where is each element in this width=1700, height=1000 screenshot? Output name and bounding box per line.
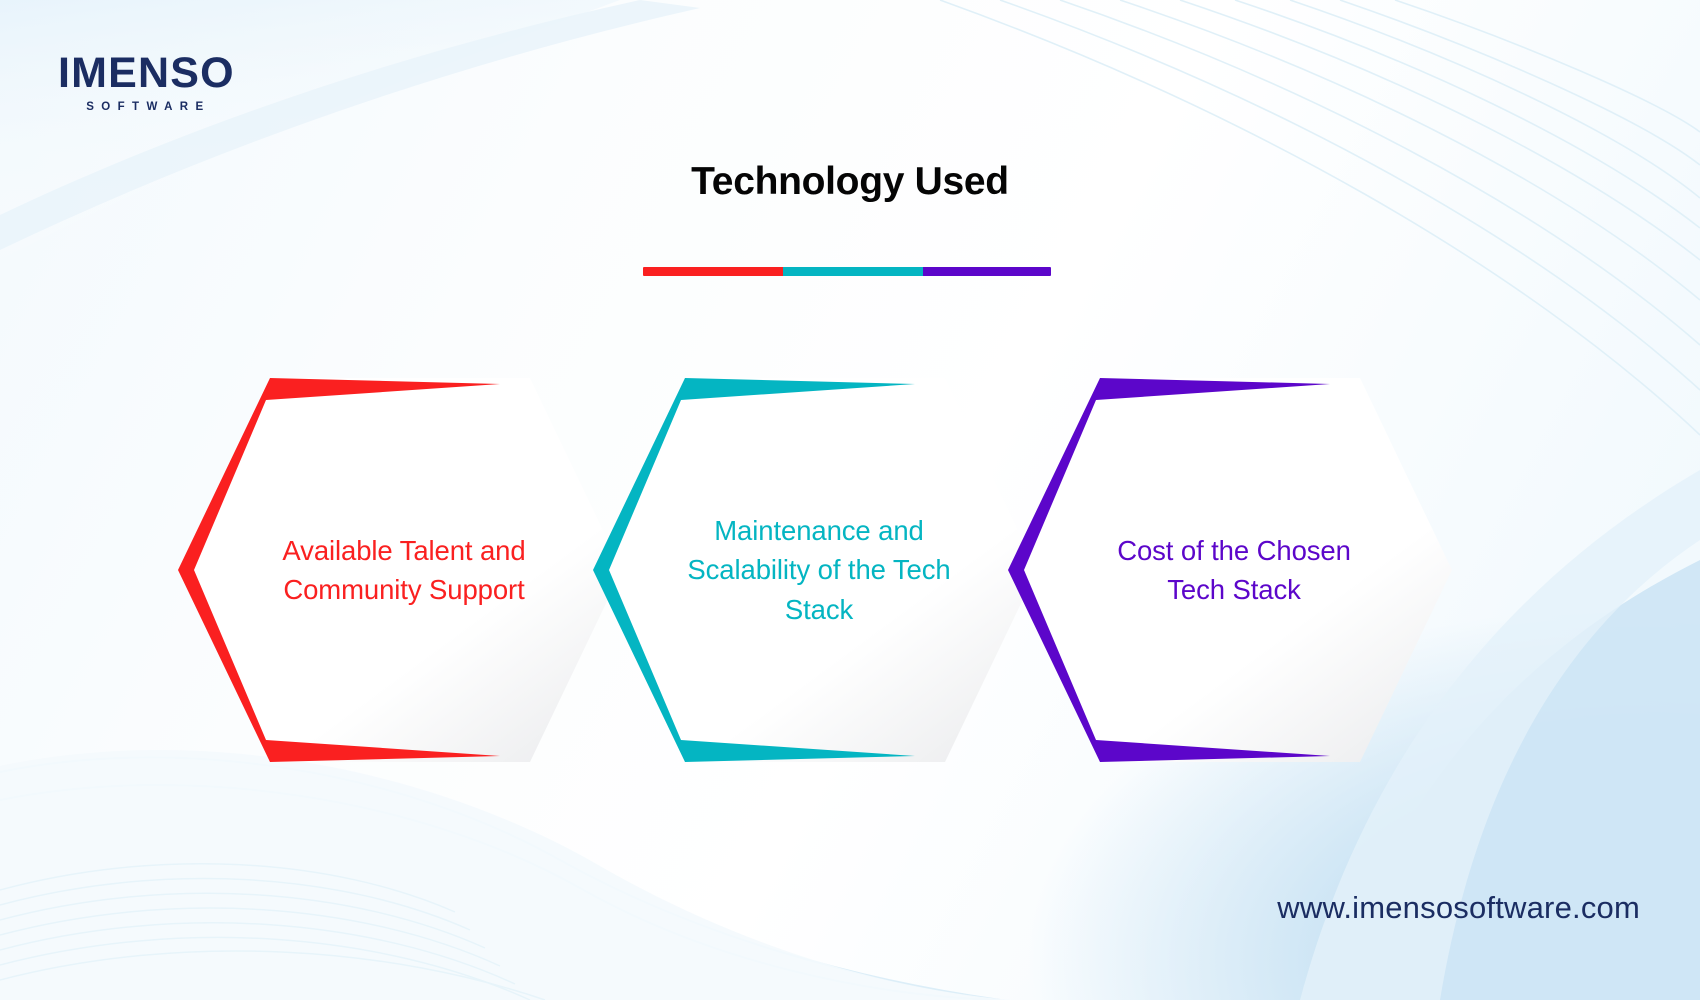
left-wave-lines — [0, 757, 1000, 1000]
hexagon-card-available-talent[interactable]: Available Talent and Community Support — [170, 370, 630, 770]
hexagon-label: Maintenance and Scalability of the Tech … — [585, 370, 1045, 770]
logo-wordmark: IMENSO — [58, 52, 235, 95]
page-title: Technology Used — [0, 160, 1700, 204]
hexagon-card-maintenance-scalability[interactable]: Maintenance and Scalability of the Tech … — [585, 370, 1045, 770]
hexagon-label: Available Talent and Community Support — [170, 370, 630, 770]
bottom-left-arc-pattern — [0, 864, 545, 1000]
hexagon-card-cost-tech-stack[interactable]: Cost of the Chosen Tech Stack — [1000, 370, 1460, 770]
divider-segment-red — [643, 267, 783, 276]
hexagon-row: Available Talent and Community Support M… — [0, 370, 1700, 770]
top-left-wash — [0, 0, 620, 260]
logo: IMENSO SOFTWARE — [58, 52, 235, 113]
slide-canvas: IMENSO SOFTWARE Technology Used — [0, 0, 1700, 1000]
hexagon-label: Cost of the Chosen Tech Stack — [1000, 370, 1460, 770]
footer-website-url[interactable]: www.imensosoftware.com — [1277, 890, 1640, 926]
divider-segment-teal — [783, 267, 923, 276]
divider-segment-purple — [923, 267, 1051, 276]
title-divider — [643, 267, 1051, 276]
left-wave-band — [0, 750, 1010, 1000]
logo-subtitle: SOFTWARE — [58, 101, 235, 113]
top-left-curve — [0, 0, 700, 250]
